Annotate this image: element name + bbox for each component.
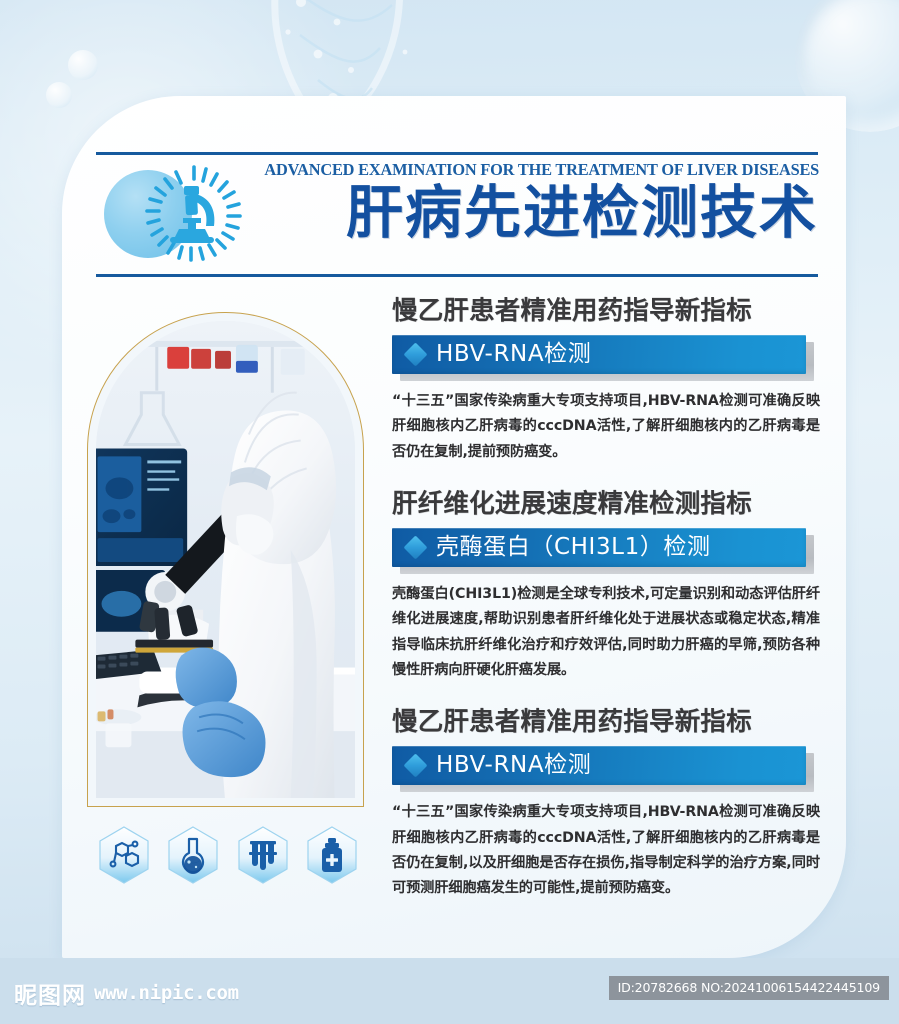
header-subtitle-english: ADVANCED EXAMINATION FOR THE TREATMENT O…	[264, 158, 818, 179]
section-banner[interactable]: HBV-RNA检测	[392, 746, 820, 787]
nipic-watermark: 昵图网 www.nipic.com	[14, 976, 239, 1010]
section-1: 慢乙肝患者精准用药指导新指标 HBV-RNA检测 “十三五”国家传染病重大专项支…	[392, 296, 820, 465]
flask-icon	[167, 826, 219, 884]
banner-bar[interactable]: HBV-RNA检测	[392, 335, 806, 374]
banner-label: HBV-RNA检测	[436, 343, 591, 366]
section-body: “十三五”国家传染病重大专项支持项目,HBV-RNA检测可准确反映肝细胞核内乙肝…	[392, 389, 820, 465]
banner-label: 壳酶蛋白（CHI3L1）检测	[436, 536, 711, 559]
section-banner[interactable]: 壳酶蛋白（CHI3L1）检测	[392, 528, 820, 569]
molecule-structure-icon	[98, 826, 150, 884]
diamond-bullet-icon	[403, 343, 427, 367]
poster-root: ADVANCED EXAMINATION FOR THE TREATMENT O…	[0, 0, 899, 1024]
section-banner[interactable]: HBV-RNA检测	[392, 335, 820, 376]
section-body: “十三五”国家传染病重大专项支持项目,HBV-RNA检测可准确反映肝细胞核内乙肝…	[392, 800, 820, 901]
footer-bar: 昵图网 www.nipic.com ID:20782668 NO:2024100…	[0, 958, 899, 1024]
test-tubes-icon	[237, 826, 289, 884]
section-title: 肝纤维化进展速度精准检测指标	[392, 489, 820, 520]
lab-scientist-microscope-photo	[96, 321, 355, 798]
image-id-badge: ID:20782668 NO:20241006154422445109	[609, 976, 889, 1000]
bubble-decoration-small-upper	[68, 50, 98, 80]
content-card: ADVANCED EXAMINATION FOR THE TREATMENT O…	[62, 96, 846, 958]
hex-icon-row	[98, 826, 358, 884]
banner-bar[interactable]: HBV-RNA检测	[392, 746, 806, 785]
header-rule-bottom	[96, 274, 818, 277]
section-title: 慢乙肝患者精准用药指导新指标	[392, 707, 820, 738]
diamond-bullet-icon	[403, 754, 427, 778]
nipic-logo-cn: 昵图网	[14, 976, 86, 1010]
lab-photo-frame	[87, 312, 364, 807]
section-body: 壳酶蛋白(CHI3L1)检测是全球专利技术,可定量识别和动态评估肝纤维化进展速度…	[392, 582, 820, 683]
section-2: 肝纤维化进展速度精准检测指标 壳酶蛋白（CHI3L1）检测 壳酶蛋白(CHI3L…	[392, 489, 820, 683]
sections-column: 慢乙肝患者精准用药指导新指标 HBV-RNA检测 “十三五”国家传染病重大专项支…	[392, 296, 820, 901]
banner-label: HBV-RNA检测	[436, 754, 591, 777]
section-3: 慢乙肝患者精准用药指导新指标 HBV-RNA检测 “十三五”国家传染病重大专项支…	[392, 707, 820, 901]
bubble-decoration-small-lower	[46, 82, 72, 108]
diamond-bullet-icon	[403, 536, 427, 560]
section-title: 慢乙肝患者精准用药指导新指标	[392, 296, 820, 327]
header-title-block: ADVANCED EXAMINATION FOR THE TREATMENT O…	[256, 158, 818, 243]
banner-bar[interactable]: 壳酶蛋白（CHI3L1）检测	[392, 528, 806, 567]
nipic-url: www.nipic.com	[94, 982, 239, 1004]
page-title: 肝病先进检测技术	[256, 184, 818, 243]
poster-header: ADVANCED EXAMINATION FOR THE TREATMENT O…	[96, 152, 818, 277]
medicine-bottle-icon	[306, 826, 358, 884]
header-rule-top	[96, 152, 818, 155]
microscope-icon	[144, 164, 244, 264]
